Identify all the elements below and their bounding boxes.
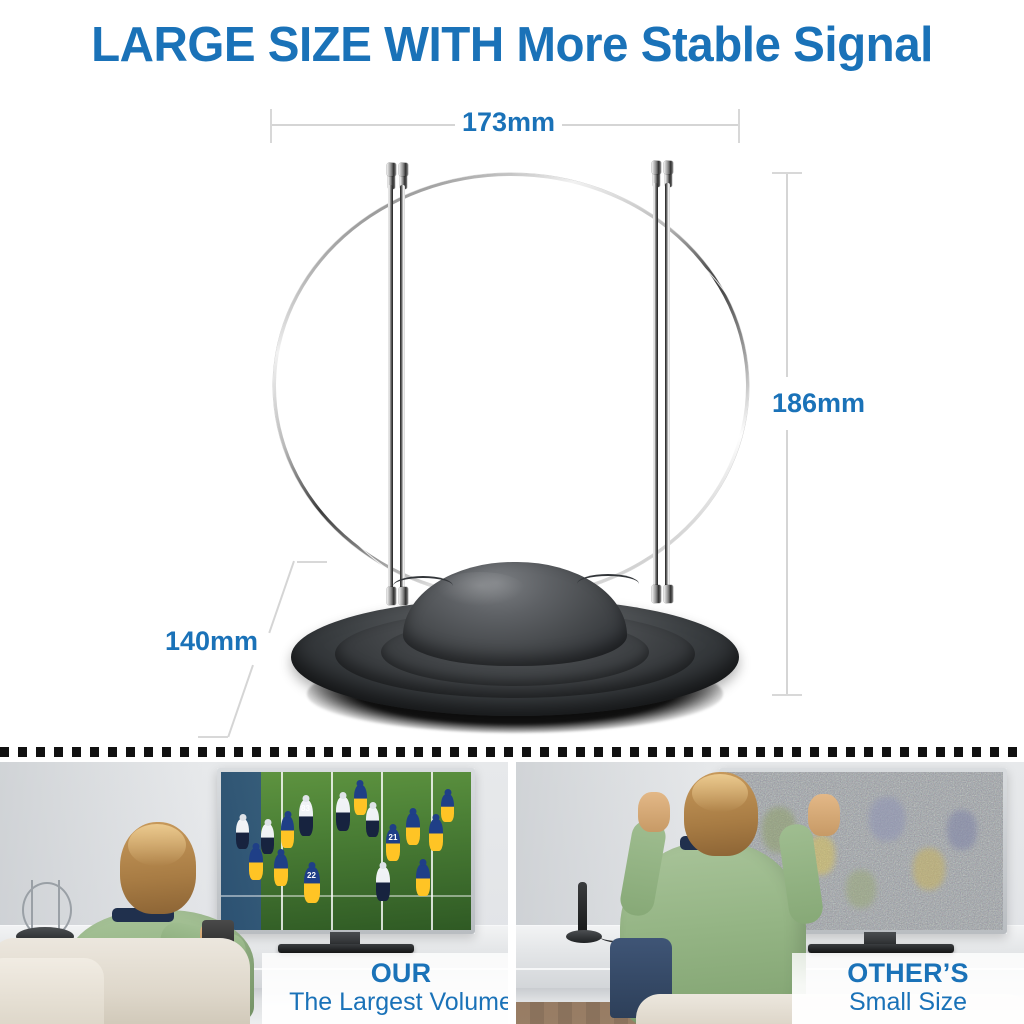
right-rod-collar-b [664,161,673,174]
antenna-base [285,550,745,740]
dashed-divider [0,746,1024,758]
player [376,867,390,901]
ghost-shape [869,797,905,841]
our-caption-subtitle: The Largest Volume [276,988,508,1016]
height-dimension-tick-bottom [772,694,802,696]
television: 83 22 21 [217,768,475,934]
chrome-loop-element [273,173,749,599]
width-dimension-label: 173mm [455,107,562,138]
height-dimension-tick-top [772,172,802,174]
player-21: 21 [386,829,400,861]
page-title: LARGE SIZE WITH More Stable Signal [15,18,1008,72]
height-dimension-label: 186mm [765,388,872,419]
player [249,848,263,880]
person-hand-right [808,794,840,836]
player [281,816,294,848]
left-rod-collar [387,163,396,176]
our-caption-overlay: OUR The Largest Volume [262,953,508,1024]
player [261,824,274,854]
our-caption-title: OUR [276,959,508,988]
player [236,819,249,849]
height-dimension-line-lower [786,430,788,695]
player [441,794,454,822]
person-hair-highlight [128,824,186,866]
sideline [221,895,471,897]
left-rod-outer [388,185,393,605]
antenna-product-image [255,155,775,755]
hero-product-section: 173mm 186mm 140mm [0,95,1024,752]
person-hand-left [638,792,670,832]
width-dimension-tick-left [270,109,272,143]
player [366,807,379,837]
width-dimension-tick-right [738,109,740,143]
tv-screen-clear: 83 22 21 [221,772,471,930]
comparison-section: 83 22 21 [0,762,1024,1024]
player [429,819,443,851]
our-product-panel: 83 22 21 [0,762,508,1024]
height-dimension-line-upper [786,172,788,377]
competitor-panel: OTHER’S Small Size [516,762,1024,1024]
competitor-stick-antenna-rod [578,882,587,934]
product-marketing-image: LARGE SIZE WITH More Stable Signal 173mm… [0,0,1024,1024]
tv-stand-base [808,944,954,953]
yard-line [331,772,333,930]
right-rod-outer [653,183,658,601]
ghost-shape [913,848,945,890]
tv-stand-base [278,944,414,953]
left-rod-inner [400,185,405,605]
competitor-caption-subtitle: Small Size [806,988,1010,1016]
right-rod-inner [665,183,670,601]
ghost-shape [846,870,876,908]
ghost-shape [947,810,977,850]
player [274,854,288,886]
competitor-stick-antenna-base [566,930,602,943]
player [416,864,430,896]
right-rod-collar [652,161,661,174]
sofa-armrest [0,958,104,1024]
depth-dimension-line-lower [227,665,253,737]
depth-dimension-label: 140mm [158,626,265,657]
player: 83 [299,800,313,836]
yard-line [381,772,383,930]
right-cable [577,574,639,594]
competitor-caption-title: OTHER’S [806,959,1010,988]
person-hair-highlight [692,774,748,812]
player [406,813,420,845]
player-22: 22 [304,867,320,903]
yard-line [431,772,433,930]
competitor-caption-overlay: OTHER’S Small Size [792,953,1024,1024]
player [336,797,350,831]
left-rod-collar-b [399,163,408,176]
left-cable [393,576,453,596]
player [354,785,367,815]
depth-dimension-tick-bottom [198,736,228,738]
